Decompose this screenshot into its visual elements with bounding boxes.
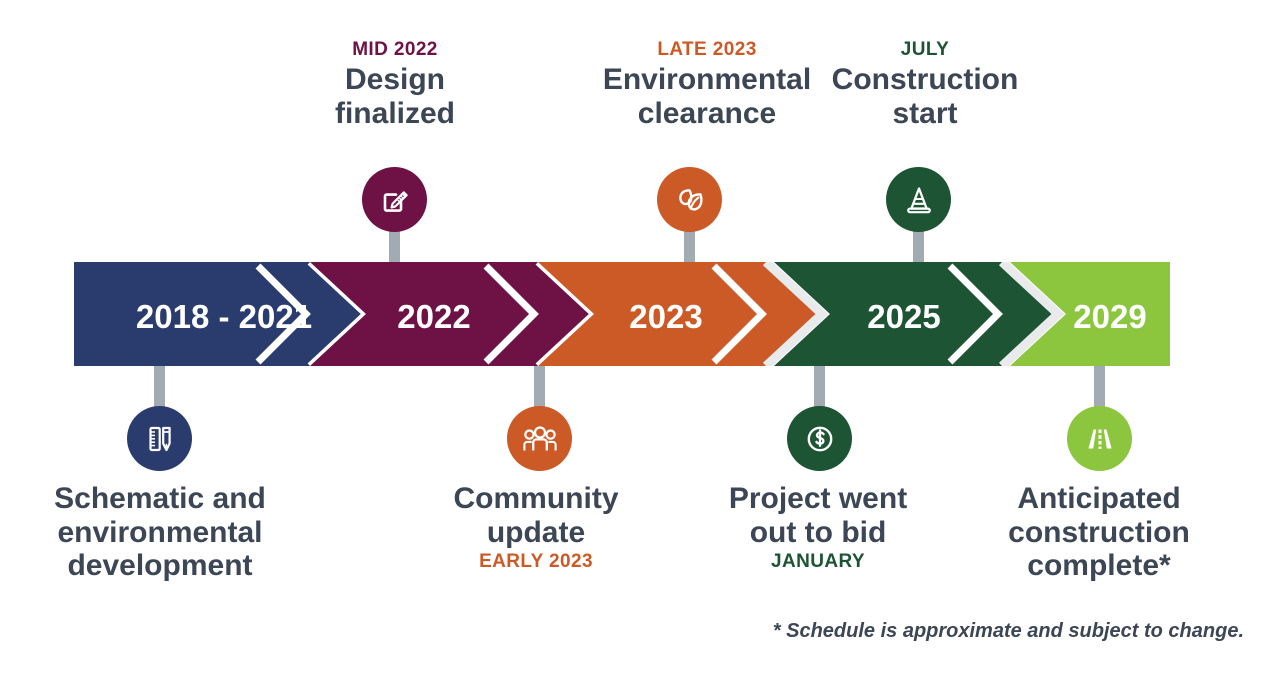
timeline-bar: 2018 - 2021 2022 2023 2025 2029 [74,262,1170,366]
ruler-pencil-icon [142,421,178,457]
milestone-icon-construction-start[interactable] [886,167,951,232]
timeline-year-2023: 2023 [629,298,702,335]
milestone-headline-design-finalized: Design finalized [295,63,495,130]
milestone-kicker-design-finalized: MID 2022 [295,40,495,60]
milestone-headline-schematic-environmental-development: Schematic and environmental development [20,482,300,583]
dollar-coin-icon [801,420,839,458]
people-group-icon [520,419,560,459]
milestone-label-design-finalized: MID 2022 Design finalized [295,40,495,130]
edit-document-icon [377,182,413,218]
road-icon [1081,420,1119,458]
milestone-label-anticipated-construction-complete: Anticipated construction complete* [985,482,1213,583]
milestone-icon-environmental-clearance[interactable] [657,167,722,232]
milestone-headline-community-update: Community update [430,482,642,549]
milestone-headline-anticipated-construction-complete: Anticipated construction complete* [985,482,1213,583]
milestone-icon-anticipated-construction-complete[interactable] [1067,406,1132,471]
timeline-year-2018-2021: 2018 - 2021 [136,298,312,335]
timeline-year-2029: 2029 [1073,298,1146,335]
timeline-infographic: MID 2022 Design finalized LATE 2023 Envi… [0,0,1280,689]
footnote-schedule-disclaimer: * Schedule is approximate and subject to… [773,620,1244,643]
timeline-year-2025: 2025 [867,298,940,335]
milestone-icon-schematic-environmental-development[interactable] [127,406,192,471]
milestone-headline-environmental-clearance: Environmental clearance [562,63,852,130]
milestone-kicker-construction-start: JULY [810,40,1040,60]
milestone-label-environmental-clearance: LATE 2023 Environmental clearance [562,40,852,130]
milestone-label-construction-start: JULY Construction start [810,40,1040,130]
timeline-year-2022: 2022 [397,298,470,335]
milestone-icon-community-update[interactable] [507,406,572,471]
traffic-cone-icon [901,182,937,218]
milestone-kicker-environmental-clearance: LATE 2023 [562,40,852,60]
milestone-label-schematic-environmental-development: Schematic and environmental development [20,482,300,583]
milestone-headline-project-went-out-to-bid: Project went out to bid [712,482,924,549]
milestone-kicker-project-went-out-to-bid: JANUARY [712,551,924,572]
milestone-headline-construction-start: Construction start [810,63,1040,130]
milestone-label-project-went-out-to-bid: Project went out to bid JANUARY [712,482,924,572]
milestone-label-community-update: Community update EARLY 2023 [430,482,642,572]
leaves-icon [671,181,709,219]
milestone-icon-project-went-out-to-bid[interactable] [787,406,852,471]
milestone-kicker-community-update: EARLY 2023 [430,551,642,572]
milestone-icon-design-finalized[interactable] [362,167,427,232]
